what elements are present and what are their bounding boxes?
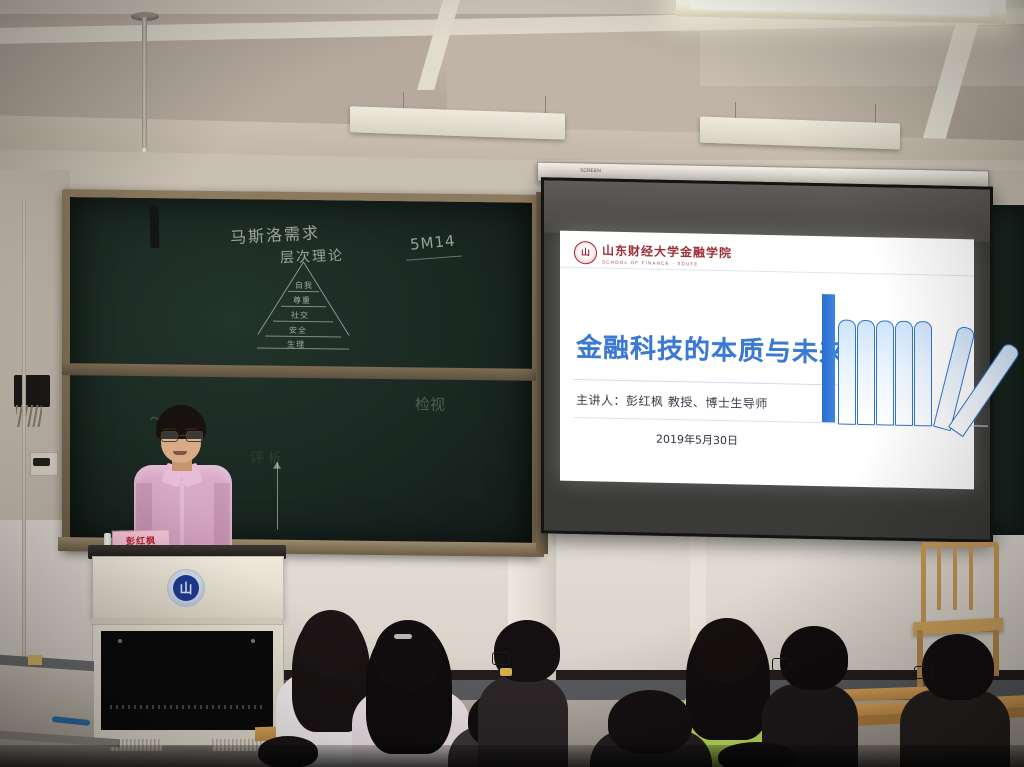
low-wall <box>0 665 94 742</box>
seal-glyph: 山 <box>581 248 590 257</box>
chair-slat-3 <box>969 548 973 610</box>
falling-dominoes-graphic <box>822 294 972 427</box>
student-7-glasses-icon <box>772 658 790 671</box>
pyramid-label-3: 社交 <box>291 310 309 321</box>
domino-1 <box>838 319 856 424</box>
podium-lock-right[interactable] <box>251 639 255 643</box>
chalk-smudge-center: 评 析 <box>250 447 282 467</box>
slide-logo: 山 山东财经大学金融学院 SCHOOL OF FINANCE · SDUFE <box>574 241 732 267</box>
wall-outlet-plug <box>33 458 50 466</box>
slide-title-rule <box>574 379 844 386</box>
school-name-cn: 山东财经大学金融学院 <box>602 242 732 262</box>
lecture-hall-photo: 马斯洛需求 层次理论 5M14 自我 尊重 社交 安全 生理 ～ 检视 <box>0 0 1024 767</box>
wall-equipment-box <box>14 375 50 407</box>
chalk-arrow <box>277 462 278 530</box>
wall-small-sign <box>28 655 42 665</box>
chair-slat-2 <box>953 548 957 610</box>
speaker-brow-left <box>163 428 176 430</box>
podium-lock-left[interactable] <box>118 639 122 643</box>
pyramid-label-1: 自我 <box>295 280 313 291</box>
student-4-glasses-icon <box>492 652 510 665</box>
speaker-mouth <box>173 451 187 455</box>
slide-header-rule <box>560 267 974 277</box>
university-seal-icon: 山 <box>574 241 597 264</box>
projection-screen: 山 山东财经大学金融学院 SCHOOL OF FINANCE · SDUFE 金… <box>541 177 993 542</box>
screen-case-label: SCREEN <box>580 168 601 174</box>
wall-conduit-pipe <box>22 200 26 670</box>
chalk-pyramid: 自我 尊重 社交 安全 生理 <box>250 261 356 346</box>
domino-2 <box>857 320 875 425</box>
chalk-text-title: 马斯洛需求 <box>229 219 320 248</box>
pyramid-label-2: 尊重 <box>293 295 311 306</box>
chalk-eraser[interactable] <box>150 206 160 248</box>
chalk-text-right: 检视 <box>415 393 445 414</box>
slide-date: 2019年5月30日 <box>656 431 738 449</box>
chalk-text-number: 5M14 <box>409 232 456 254</box>
podium-control-panel[interactable] <box>101 631 273 730</box>
domino-4 <box>895 321 913 426</box>
speaker-glasses-icon <box>161 431 201 440</box>
slide-title: 金融科技的本质与未来 <box>576 327 846 370</box>
domino-5 <box>914 321 932 426</box>
domino-3 <box>876 320 894 425</box>
student-5-head <box>694 618 760 682</box>
slide-subtitle: 主讲人：彭红枫 教授、博士生导师 <box>576 391 768 412</box>
speaker-brow-right <box>185 428 198 430</box>
podium-keypad-strip[interactable] <box>110 705 262 709</box>
pyramid-label-4: 安全 <box>289 325 307 336</box>
student-2-hair-clip <box>394 634 412 639</box>
student-2-head <box>374 620 442 690</box>
ceiling <box>0 0 1024 175</box>
presentation-slide: 山 山东财经大学金融学院 SCHOOL OF FINANCE · SDUFE 金… <box>560 231 974 490</box>
equipment-cables <box>16 405 42 427</box>
student-7-head <box>780 626 848 690</box>
domino-lead-bar <box>822 294 835 422</box>
foreground-shadow <box>0 745 1024 767</box>
student-8-glasses-icon <box>914 666 933 679</box>
student-4-collar <box>500 668 512 676</box>
chair-slat-1 <box>937 548 941 610</box>
chalk-underline <box>406 256 462 261</box>
emblem-inner-glyph: 山 <box>173 575 199 601</box>
ceiling-panel-right <box>700 26 1024 86</box>
pyramid-label-5: 生理 <box>287 339 305 350</box>
university-emblem-icon: 山 <box>167 569 205 607</box>
student-1-head <box>300 610 362 674</box>
